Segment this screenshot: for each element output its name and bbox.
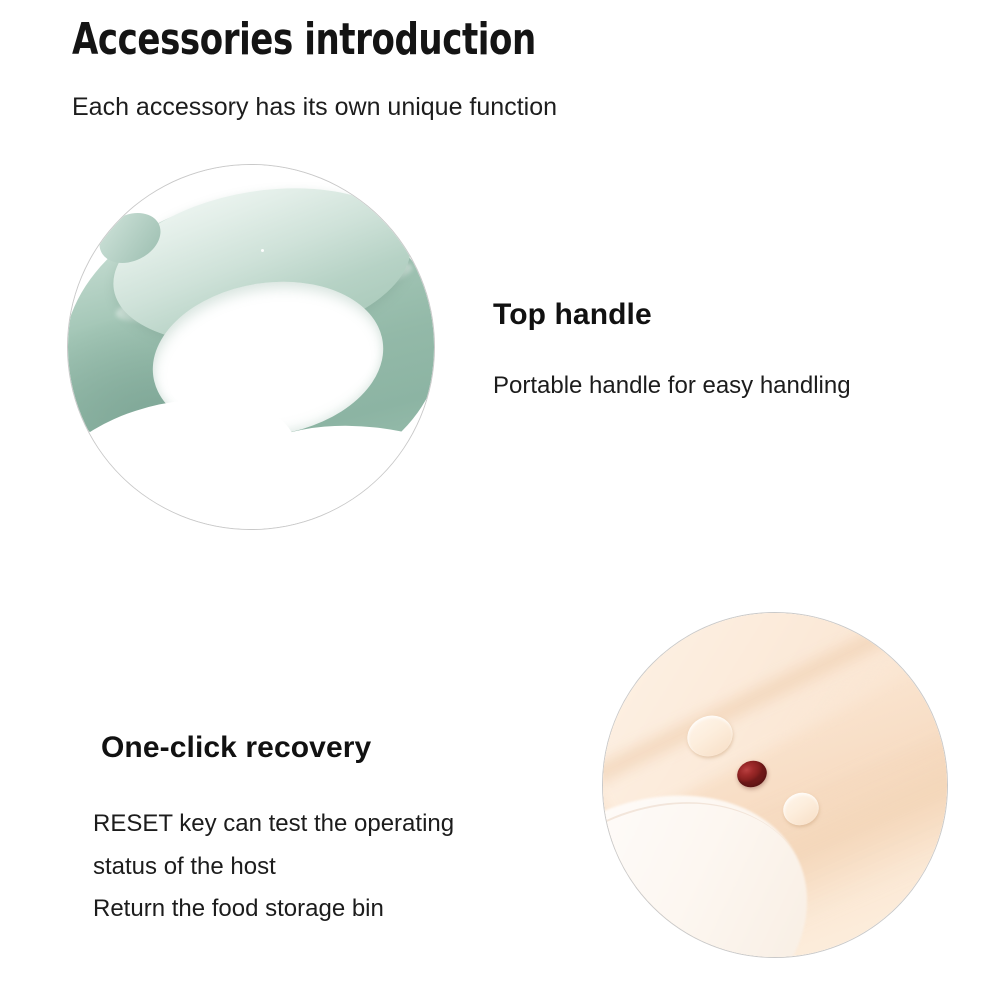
one-click-recovery-description: RESET key can test the operating status … bbox=[93, 803, 454, 931]
one-click-recovery-line-3: Return the food storage bin bbox=[93, 888, 454, 931]
page-subtitle: Each accessory has its own unique functi… bbox=[72, 92, 557, 122]
one-click-recovery-title: One-click recovery bbox=[101, 731, 371, 765]
one-click-recovery-line-1: RESET key can test the operating bbox=[93, 803, 454, 846]
reset-key-photo-stage bbox=[603, 613, 947, 957]
handle-surface-speck bbox=[261, 249, 264, 252]
top-handle-photo-stage bbox=[68, 165, 434, 529]
one-click-recovery-line-2: status of the host bbox=[93, 846, 454, 889]
top-handle-title: Top handle bbox=[493, 298, 652, 332]
infographic-page: Accessories introduction Each accessory … bbox=[0, 0, 1000, 1000]
top-handle-photo bbox=[67, 164, 435, 530]
reset-key-photo bbox=[602, 612, 948, 958]
page-title: Accessories introduction bbox=[72, 16, 536, 64]
top-handle-description: Portable handle for easy handling bbox=[493, 365, 851, 406]
